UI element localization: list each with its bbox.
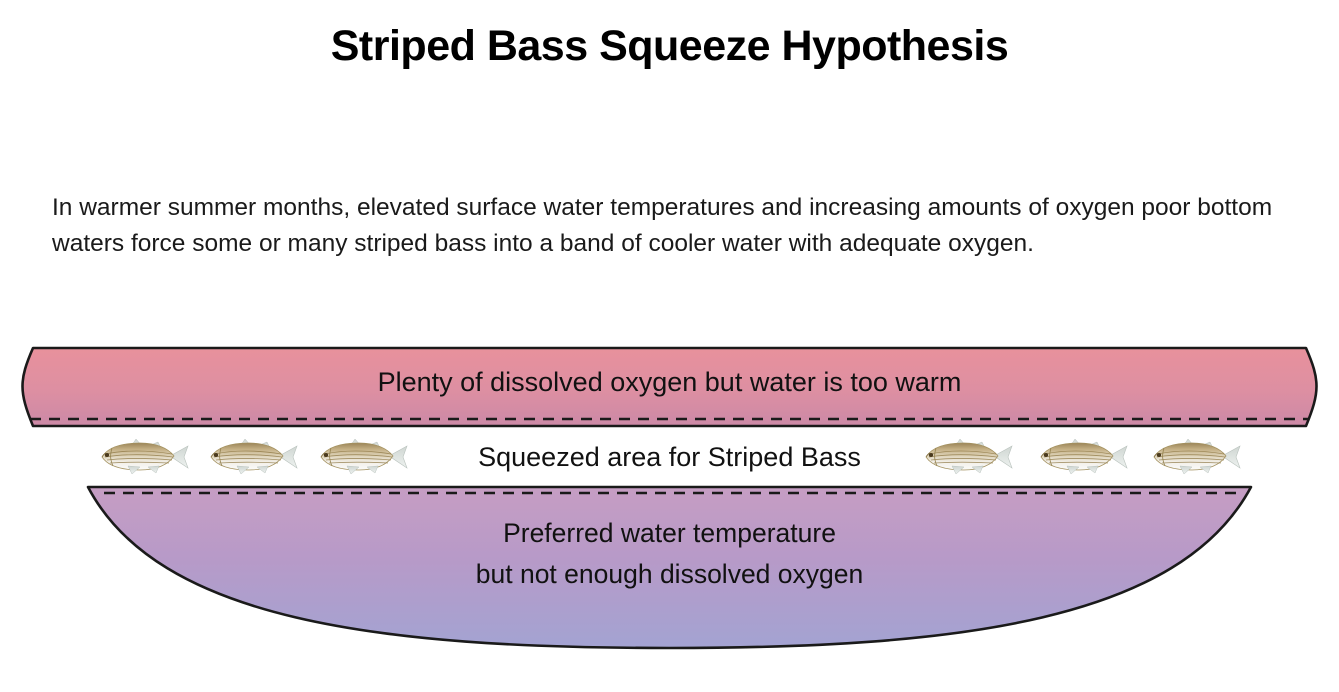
striped-bass-icon-4 [920,435,1016,479]
striped-bass-icon-1 [96,435,192,479]
striped-bass-icon-2 [205,435,301,479]
striped-bass-squeeze-diagram: Plenty of dissolved oxygen but water is … [0,330,1339,660]
cold-layer-label-line2: but not enough dissolved oxygen [476,559,864,589]
striped-bass-icon-6 [1148,435,1244,479]
squeeze-layer-label: Squeezed area for Striped Bass [0,442,1339,473]
cold-layer-label: Preferred water temperature but not enou… [0,513,1339,595]
striped-bass-icon-5 [1035,435,1131,479]
page-title: Striped Bass Squeeze Hypothesis [0,22,1339,70]
intro-paragraph: In warmer summer months, elevated surfac… [52,190,1297,262]
warm-layer-label: Plenty of dissolved oxygen but water is … [0,367,1339,398]
striped-bass-icon-3 [315,435,411,479]
cold-layer-label-line1: Preferred water temperature [503,518,836,548]
